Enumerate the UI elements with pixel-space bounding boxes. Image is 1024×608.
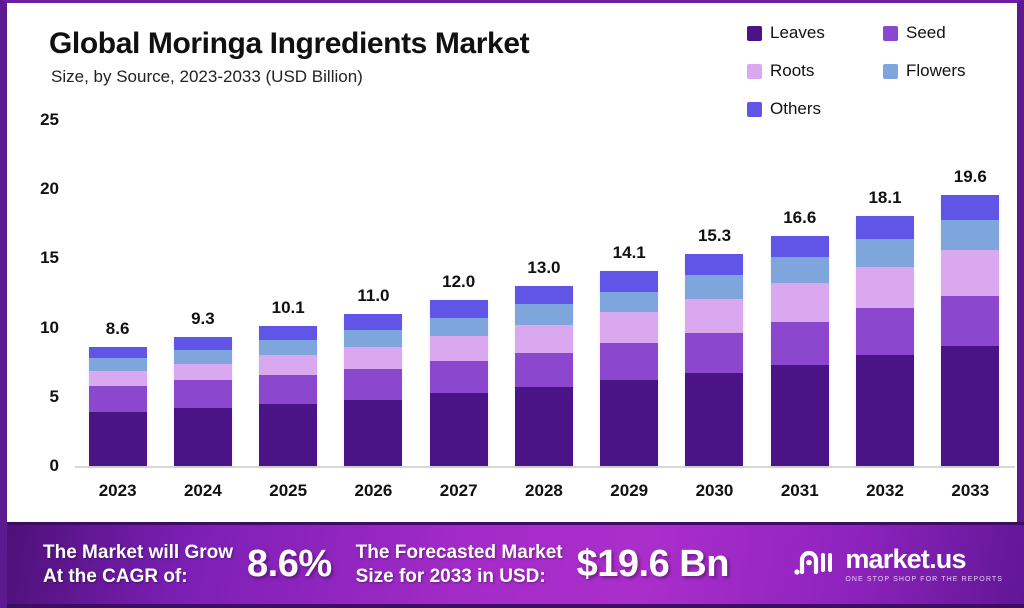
x-axis-tick: 2032 (856, 481, 914, 513)
bar-segment-seed[interactable] (344, 369, 402, 399)
bar-segment-seed[interactable] (941, 296, 999, 346)
forecast-value: $19.6 Bn (577, 543, 729, 586)
market-us-mark-icon (794, 547, 836, 582)
bar-stack[interactable] (344, 314, 402, 466)
bar-total-label: 14.1 (613, 243, 646, 263)
bar-segment-seed[interactable] (89, 386, 147, 412)
bar-column[interactable]: 15.3 (685, 120, 743, 466)
bar-column[interactable]: 8.6 (89, 120, 147, 466)
bar-total-label: 15.3 (698, 226, 731, 246)
bar-segment-roots[interactable] (174, 364, 232, 381)
x-axis-tick: 2026 (344, 481, 402, 513)
chart-infographic: Global Moringa Ingredients Market Size, … (0, 0, 1024, 608)
bar-segment-flowers[interactable] (515, 304, 573, 325)
bar-total-label: 19.6 (954, 167, 987, 187)
legend-swatch-seed-icon (883, 26, 898, 41)
bar-segment-roots[interactable] (430, 336, 488, 361)
cagr-value: 8.6% (247, 543, 332, 586)
forecast-label-line2: Size for 2033 in USD: (356, 565, 563, 588)
brand-text-group: market.us ONE STOP SHOP FOR THE REPORTS (845, 546, 1003, 583)
bar-column[interactable]: 13.0 (515, 120, 573, 466)
bar-segment-others[interactable] (430, 300, 488, 318)
bar-segment-others[interactable] (856, 216, 914, 240)
bar-segment-seed[interactable] (174, 380, 232, 408)
legend-label: Flowers (906, 61, 966, 81)
x-axis-tick: 2029 (600, 481, 658, 513)
bar-stack[interactable] (685, 254, 743, 466)
bar-total-label: 11.0 (357, 286, 389, 306)
legend-item-flowers[interactable]: Flowers (883, 61, 1019, 81)
bar-segment-leaves[interactable] (174, 408, 232, 466)
bar-total-label: 12.0 (442, 272, 475, 292)
bar-column[interactable]: 11.0 (344, 120, 402, 466)
legend-label: Roots (770, 61, 814, 81)
y-axis-tick: 25 (7, 110, 59, 130)
y-axis-tick: 0 (7, 456, 59, 476)
x-axis-tick: 2031 (771, 481, 829, 513)
bar-total-label: 13.0 (527, 258, 560, 278)
bar-segment-others[interactable] (344, 314, 402, 331)
bar-segment-roots[interactable] (515, 325, 573, 353)
bar-segment-leaves[interactable] (259, 404, 317, 466)
market-us-logo[interactable]: market.us ONE STOP SHOP FOR THE REPORTS (794, 546, 1003, 583)
bar-column[interactable]: 18.1 (856, 120, 914, 466)
legend-item-others[interactable]: Others (747, 99, 883, 119)
bar-total-label: 10.1 (272, 298, 305, 318)
bar-stack[interactable] (430, 300, 488, 466)
bar-segment-seed[interactable] (515, 353, 573, 388)
y-axis-tick: 20 (7, 179, 59, 199)
x-axis: 2023202420252026202720282029203020312032… (75, 481, 1013, 513)
bar-segment-roots[interactable] (344, 347, 402, 369)
bar-total-label: 16.6 (783, 208, 816, 228)
bar-segment-roots[interactable] (771, 283, 829, 322)
legend-item-seed[interactable]: Seed (883, 23, 1019, 43)
x-axis-baseline (75, 466, 1015, 468)
bar-segment-flowers[interactable] (685, 275, 743, 299)
bar-column[interactable]: 16.6 (771, 120, 829, 466)
bar-stack[interactable] (515, 286, 573, 466)
bar-total-label: 18.1 (868, 188, 901, 208)
x-axis-tick: 2025 (259, 481, 317, 513)
bar-segment-leaves[interactable] (430, 393, 488, 466)
y-axis-tick: 15 (7, 248, 59, 268)
x-axis-tick: 2024 (174, 481, 232, 513)
bar-segment-others[interactable] (515, 286, 573, 304)
bar-segment-seed[interactable] (259, 375, 317, 404)
bar-stack[interactable] (856, 216, 914, 466)
legend-item-roots[interactable]: Roots (747, 61, 883, 81)
cagr-label: The Market will Grow At the CAGR of: (43, 541, 233, 587)
y-axis-tick: 5 (7, 387, 59, 407)
bar-segment-leaves[interactable] (941, 346, 999, 466)
bar-column[interactable]: 19.6 (941, 120, 999, 466)
bar-segment-seed[interactable] (856, 308, 914, 355)
legend-label: Others (770, 99, 821, 119)
legend-label: Seed (906, 23, 946, 43)
legend-swatch-roots-icon (747, 64, 762, 79)
bar-column[interactable]: 9.3 (174, 120, 232, 466)
bar-segment-seed[interactable] (430, 361, 488, 393)
forecast-label-line1: The Forecasted Market (356, 541, 563, 564)
forecast-label: The Forecasted Market Size for 2033 in U… (356, 541, 563, 587)
bar-segment-roots[interactable] (259, 355, 317, 374)
bar-segment-roots[interactable] (856, 267, 914, 309)
bar-segment-roots[interactable] (941, 250, 999, 296)
bar-segment-leaves[interactable] (685, 373, 743, 466)
bar-total-label: 9.3 (191, 309, 215, 329)
y-axis-tick: 10 (7, 318, 59, 338)
legend-swatch-flowers-icon (883, 64, 898, 79)
bar-segment-seed[interactable] (685, 333, 743, 373)
page-subtitle: Size, by Source, 2023-2033 (USD Billion) (51, 67, 363, 87)
bar-stack[interactable] (259, 326, 317, 466)
bar-segment-seed[interactable] (771, 322, 829, 365)
bar-segment-others[interactable] (600, 271, 658, 292)
bar-segment-flowers[interactable] (771, 257, 829, 283)
cagr-label-line1: The Market will Grow (43, 541, 233, 564)
bar-segment-others[interactable] (259, 326, 317, 340)
x-axis-tick: 2028 (515, 481, 573, 513)
x-axis-tick: 2023 (89, 481, 147, 513)
bar-column[interactable]: 12.0 (430, 120, 488, 466)
bar-stack[interactable] (941, 195, 999, 466)
bar-segment-flowers[interactable] (430, 318, 488, 336)
bar-segment-flowers[interactable] (941, 220, 999, 250)
legend-swatch-leaves-icon (747, 26, 762, 41)
bar-column[interactable]: 14.1 (600, 120, 658, 466)
summary-banner: The Market will Grow At the CAGR of: 8.6… (7, 522, 1024, 608)
chart-legend: LeavesSeedRootsFlowersOthers (747, 23, 1019, 119)
bar-segment-others[interactable] (771, 236, 829, 257)
bar-segment-leaves[interactable] (600, 380, 658, 466)
bar-segment-leaves[interactable] (515, 387, 573, 466)
bar-segment-flowers[interactable] (856, 239, 914, 267)
brand-tagline: ONE STOP SHOP FOR THE REPORTS (845, 576, 1003, 583)
bar-stack[interactable] (600, 271, 658, 466)
bar-segment-flowers[interactable] (259, 340, 317, 355)
bar-column[interactable]: 10.1 (259, 120, 317, 466)
bar-segment-others[interactable] (174, 337, 232, 349)
bar-stack[interactable] (174, 337, 232, 466)
bar-stack[interactable] (89, 347, 147, 466)
y-axis: 0510152025 (7, 120, 67, 466)
cagr-label-line2: At the CAGR of: (43, 565, 233, 588)
bar-segment-leaves[interactable] (771, 365, 829, 466)
legend-item-leaves[interactable]: Leaves (747, 23, 883, 43)
bar-series-container: 8.69.310.111.012.013.014.115.316.618.119… (75, 120, 1013, 466)
bar-segment-seed[interactable] (600, 343, 658, 380)
x-axis-tick: 2030 (685, 481, 743, 513)
x-axis-tick: 2027 (430, 481, 488, 513)
bar-total-label: 8.6 (106, 319, 130, 339)
bar-segment-others[interactable] (89, 347, 147, 358)
legend-label: Leaves (770, 23, 825, 43)
bar-segment-others[interactable] (941, 195, 999, 220)
page-title: Global Moringa Ingredients Market (49, 27, 529, 61)
bar-segment-flowers[interactable] (600, 292, 658, 313)
bar-segment-flowers[interactable] (174, 350, 232, 364)
brand-name: market.us (845, 546, 1003, 573)
bar-segment-leaves[interactable] (344, 400, 402, 466)
bar-segment-others[interactable] (685, 254, 743, 275)
bar-segment-leaves[interactable] (89, 412, 147, 466)
bar-segment-roots[interactable] (89, 371, 147, 386)
bar-stack[interactable] (771, 236, 829, 466)
bar-segment-roots[interactable] (685, 299, 743, 334)
bar-segment-roots[interactable] (600, 312, 658, 342)
bar-segment-flowers[interactable] (344, 330, 402, 347)
x-axis-tick: 2033 (941, 481, 999, 513)
legend-swatch-others-icon (747, 102, 762, 117)
bar-segment-leaves[interactable] (856, 355, 914, 466)
bar-segment-flowers[interactable] (89, 358, 147, 370)
